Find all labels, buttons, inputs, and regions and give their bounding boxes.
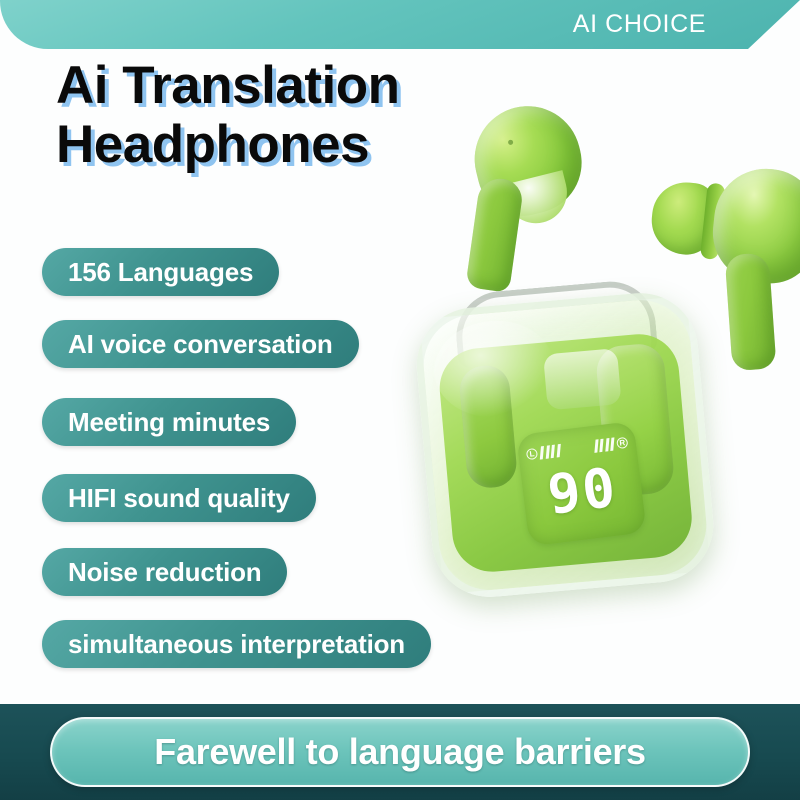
top-banner: AI CHOICE [0,0,800,49]
charging-case-body [436,331,695,575]
case-gloss-highlight [430,316,558,422]
charging-case-lid [453,278,659,369]
ai-choice-label: AI CHOICE [573,10,800,39]
feature-pill-label: HIFI sound quality [68,483,290,514]
feature-pill-label: AI voice conversation [68,329,333,360]
earbud-stem [465,176,524,293]
earbud-tip [502,170,573,230]
feature-pill-meeting-minutes: Meeting minutes [42,398,296,446]
charging-case-shell: L R 90 [412,288,718,601]
battery-display-screen: L R 90 [516,421,647,547]
right-channel-icon: R [616,436,628,448]
feature-pill-noise-reduction: Noise reduction [42,548,287,596]
battery-percent-value: 90 [520,455,644,529]
earbud-collar [700,183,726,260]
earbud-right-image [638,151,798,365]
earbud-eartip [648,179,717,257]
tagline-text: Farewell to language barriers [154,731,645,773]
right-battery-bars-icon [594,437,615,452]
feature-pill-ai-voice-conversation: AI voice conversation [42,320,359,368]
product-poster: AI CHOICE Ai Translation Headphones 156 … [0,0,800,800]
left-battery-bars-icon [540,444,561,459]
top-banner-inner: AI CHOICE [0,0,800,49]
tagline-pill: Farewell to language barriers [50,717,750,787]
right-bud-battery-group: R [594,435,629,452]
feature-pill-label: Noise reduction [68,557,261,588]
feature-pill-label: Meeting minutes [68,407,270,438]
feature-pill-languages: 156 Languages [42,248,279,296]
left-bud-battery-group: L [526,444,561,461]
earbud-stem [725,252,777,371]
charging-case-hinge [543,348,622,410]
charging-case-slot-left [458,364,518,490]
left-channel-icon: L [526,447,538,459]
feature-pill-simultaneous-interpretation: simultaneous interpretation [42,620,431,668]
bottom-banner: Farewell to language barriers [0,704,800,800]
feature-pill-label: simultaneous interpretation [68,629,405,660]
earbud-head [708,164,800,288]
page-title: Ai Translation Headphones [56,56,526,175]
feature-pill-hifi-sound-quality: HIFI sound quality [42,474,316,522]
feature-pill-label: 156 Languages [68,257,253,288]
charging-case-image: L R 90 [412,288,718,601]
charging-case-slot-right [595,342,676,497]
battery-indicator-row: L R [525,431,629,465]
